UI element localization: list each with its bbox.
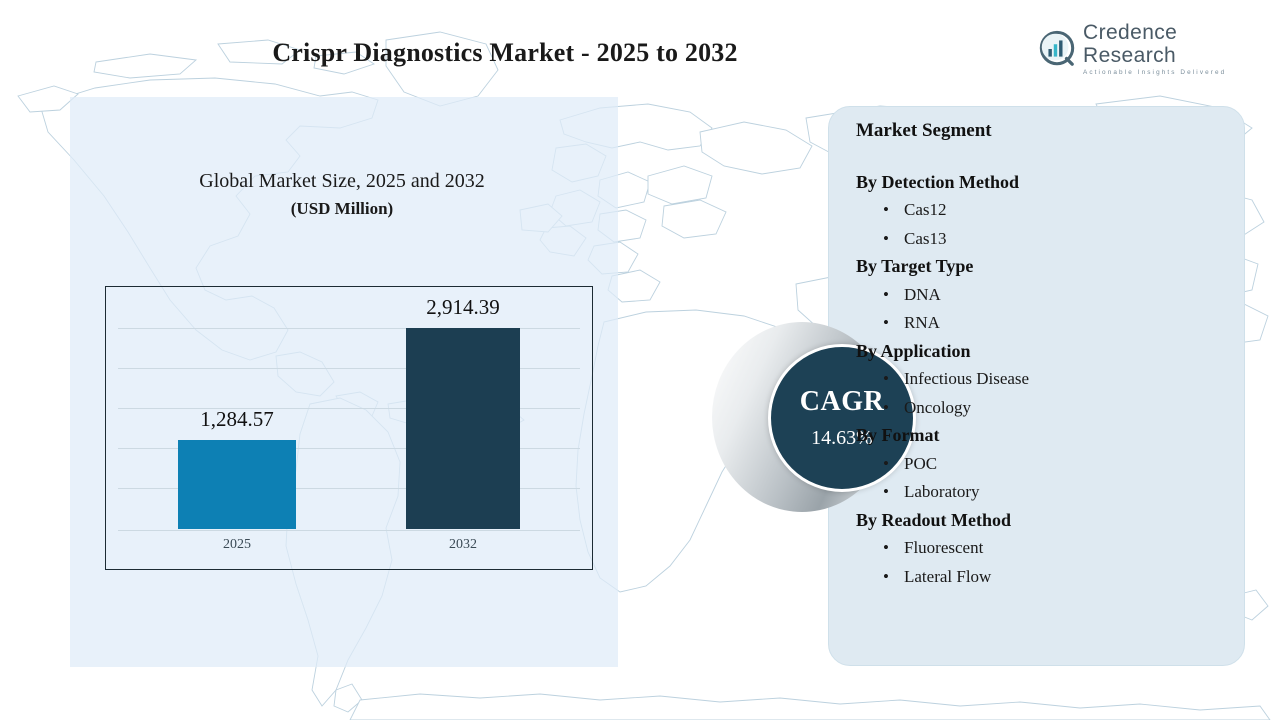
gridline [118, 530, 580, 531]
bar-value-2032: 2,914.39 [426, 295, 500, 320]
segment-item-label: Fluorescent [904, 538, 983, 557]
bullet-icon: • [883, 281, 889, 310]
logo-text-block: Credence Research Actionable Insights De… [1083, 22, 1254, 75]
logo-brand-name: Credence Research [1083, 22, 1254, 66]
segment-item-list: •Fluorescent•Lateral Flow [856, 534, 1236, 591]
segment-item-list: •DNA•RNA [856, 281, 1236, 338]
chart-subtitle: (USD Million) [92, 196, 592, 222]
segment-item: •RNA [856, 309, 1236, 338]
segment-item: •POC [856, 450, 1236, 479]
segment-item-label: Oncology [904, 398, 971, 417]
segment-group-title: By Target Type [856, 253, 1236, 280]
bar-chart-circle-icon [1038, 30, 1076, 68]
segment-item: •Oncology [856, 394, 1236, 423]
bar-2032: 2,914.39 2032 [406, 328, 520, 529]
bullet-icon: • [883, 450, 889, 479]
bullet-icon: • [883, 365, 889, 394]
segment-group-title: By Readout Method [856, 507, 1236, 534]
segment-item-list: •Cas12•Cas13 [856, 196, 1236, 253]
bullet-icon: • [883, 309, 889, 338]
bullet-icon: • [883, 563, 889, 592]
segment-item-label: Laboratory [904, 482, 980, 501]
segment-item: •Infectious Disease [856, 365, 1236, 394]
bullet-icon: • [883, 478, 889, 507]
segment-item-label: Lateral Flow [904, 567, 991, 586]
bar-category-2032: 2032 [449, 537, 477, 553]
segment-item: •DNA [856, 281, 1236, 310]
infographic-canvas: Crispr Diagnostics Market - 2025 to 2032… [0, 0, 1280, 720]
brand-logo: Credence Research Actionable Insights De… [1038, 27, 1254, 71]
segment-item-list: •Infectious Disease•Oncology [856, 365, 1236, 422]
segment-item: •Laboratory [856, 478, 1236, 507]
segment-item-label: Infectious Disease [904, 369, 1029, 388]
bullet-icon: • [883, 196, 889, 225]
chart-title: Global Market Size, 2025 and 2032 [199, 170, 485, 192]
segment-item: •Cas12 [856, 196, 1236, 225]
bullet-icon: • [883, 394, 889, 423]
segment-item-label: Cas12 [904, 200, 947, 219]
segment-group-title: By Application [856, 338, 1236, 365]
segment-groups: By Detection Method•Cas12•Cas13By Target… [856, 169, 1236, 591]
segment-panel-title: Market Segment [856, 120, 1236, 142]
bullet-icon: • [883, 225, 889, 254]
bar-chart: 1,284.57 2025 2,914.39 2032 [105, 286, 593, 570]
bar-category-2025: 2025 [223, 537, 251, 553]
segment-item-list: •POC•Laboratory [856, 450, 1236, 507]
segment-item-label: POC [904, 454, 937, 473]
segment-item: •Fluorescent [856, 534, 1236, 563]
segment-list: Market Segment By Detection Method•Cas12… [856, 120, 1236, 591]
page-title: Crispr Diagnostics Market - 2025 to 2032 [0, 38, 1010, 68]
logo-tagline: Actionable Insights Delivered [1083, 69, 1254, 76]
segment-item-label: RNA [904, 313, 940, 332]
segment-item: •Cas13 [856, 225, 1236, 254]
segment-item: •Lateral Flow [856, 563, 1236, 592]
segment-item-label: Cas13 [904, 229, 947, 248]
segment-group-title: By Detection Method [856, 169, 1236, 196]
bar-value-2025: 1,284.57 [200, 407, 274, 432]
bar-2025: 1,284.57 2025 [178, 440, 296, 529]
segment-item-label: DNA [904, 285, 941, 304]
segment-group-title: By Format [856, 422, 1236, 449]
bullet-icon: • [883, 534, 889, 563]
chart-title-block: Global Market Size, 2025 and 2032 (USD M… [92, 166, 592, 222]
